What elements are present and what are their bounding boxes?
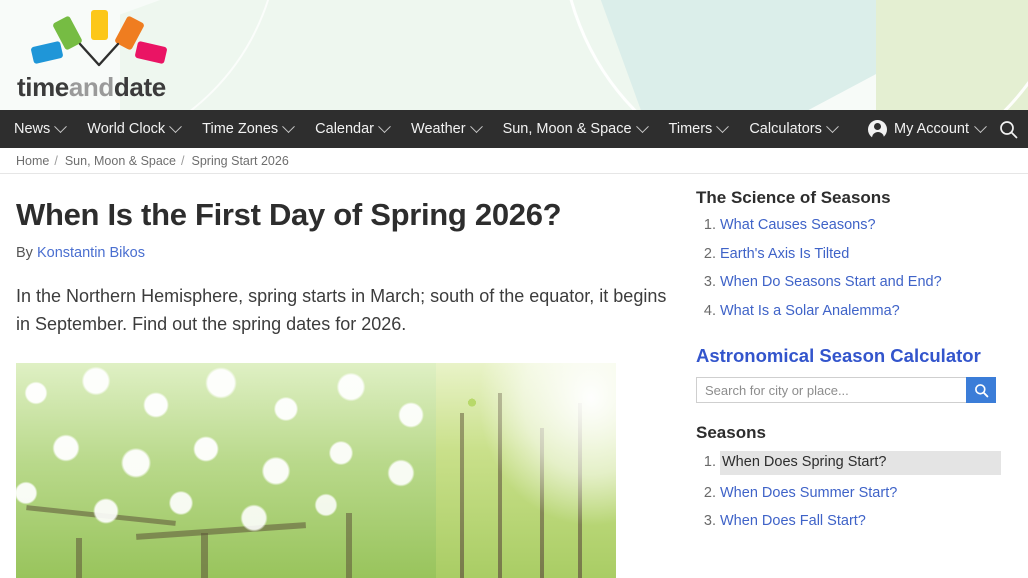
- header-band-green: [876, 0, 1028, 110]
- city-search-bar: [696, 377, 996, 403]
- logo-tile-blue-icon: [30, 41, 63, 64]
- breadcrumb: Home / Sun, Moon & Space / Spring Start …: [0, 148, 1028, 174]
- chevron-down-icon: [282, 120, 295, 133]
- list-item: Earth's Axis Is Tilted: [720, 245, 1012, 265]
- page-title: When Is the First Day of Spring 2026?: [16, 196, 688, 233]
- header-band-teal: [268, 0, 1028, 110]
- byline-prefix: By: [16, 245, 33, 261]
- wordmark-time: time: [17, 72, 69, 102]
- site-header: timeanddate: [0, 0, 1028, 110]
- list-item: When Does Fall Start?: [720, 512, 1012, 532]
- sidebar: The Science of Seasons What Causes Seaso…: [688, 174, 1012, 578]
- logo-tile-yellow-icon: [91, 10, 108, 40]
- science-link-3[interactable]: When Do Seasons Start and End?: [720, 274, 942, 290]
- my-account-label: My Account: [894, 121, 969, 137]
- list-item-current: When Does Spring Start?: [720, 451, 1012, 475]
- nav-label: Calculators: [749, 121, 822, 137]
- wordmark-and: and: [69, 72, 114, 102]
- author-link[interactable]: Konstantin Bikos: [37, 245, 145, 261]
- chevron-down-icon: [826, 120, 839, 133]
- nav-item-time-zones[interactable]: Time Zones: [202, 121, 293, 137]
- byline: By Konstantin Bikos: [16, 245, 688, 261]
- breadcrumb-separator: /: [181, 154, 184, 168]
- person-icon: [868, 120, 887, 139]
- chevron-down-icon: [169, 120, 182, 133]
- logo-wordmark: timeanddate: [17, 72, 166, 103]
- list-item: When Do Seasons Start and End?: [720, 273, 1012, 293]
- chevron-down-icon: [470, 120, 483, 133]
- nav-item-calendar[interactable]: Calendar: [315, 121, 389, 137]
- sidebar-heading-calculator: Astronomical Season Calculator: [696, 345, 1012, 367]
- article-lede: In the Northern Hemisphere, spring start…: [16, 283, 676, 339]
- nav-item-weather[interactable]: Weather: [411, 121, 481, 137]
- seasons-link-fall[interactable]: When Does Fall Start?: [720, 513, 866, 529]
- chevron-down-icon: [974, 120, 987, 133]
- search-icon: [974, 383, 989, 398]
- logo-chevron-icon: [78, 42, 120, 68]
- page-body: When Is the First Day of Spring 2026? By…: [0, 174, 1028, 578]
- logo-arc-icon: [30, 6, 188, 68]
- search-button[interactable]: [966, 377, 996, 403]
- list-item: When Does Summer Start?: [720, 484, 1012, 504]
- breadcrumb-current: Spring Start 2026: [192, 154, 289, 168]
- search-input[interactable]: [696, 377, 966, 403]
- list-item: What Is a Solar Analemma?: [720, 302, 1012, 322]
- nav-label: Sun, Moon & Space: [503, 121, 632, 137]
- nav-label: News: [14, 121, 50, 137]
- article-photo: [16, 363, 616, 578]
- nav-item-sun-moon-space[interactable]: Sun, Moon & Space: [503, 121, 647, 137]
- sidebar-heading-seasons: Seasons: [696, 423, 1012, 443]
- chevron-down-icon: [636, 120, 649, 133]
- seasons-item-spring: When Does Spring Start?: [720, 451, 1001, 475]
- breadcrumb-item-home[interactable]: Home: [16, 154, 49, 168]
- header-arc-icon: [560, 0, 1028, 110]
- nav-label: Calendar: [315, 121, 374, 137]
- breadcrumb-item-sun-moon-space[interactable]: Sun, Moon & Space: [65, 154, 176, 168]
- photo-sunglare-layer: [16, 363, 616, 578]
- sidebar-heading-science: The Science of Seasons: [696, 188, 1012, 208]
- main-navigation: News World Clock Time Zones Calendar Wea…: [0, 110, 1028, 148]
- nav-item-news[interactable]: News: [14, 121, 65, 137]
- wordmark-date: date: [114, 72, 166, 102]
- season-calculator-block: Astronomical Season Calculator: [696, 345, 1012, 403]
- nav-item-timers[interactable]: Timers: [669, 121, 728, 137]
- main-content: When Is the First Day of Spring 2026? By…: [16, 174, 688, 578]
- science-link-1[interactable]: What Causes Seasons?: [720, 217, 876, 233]
- my-account-button[interactable]: My Account: [868, 120, 985, 139]
- science-link-4[interactable]: What Is a Solar Analemma?: [720, 303, 900, 319]
- nav-label: Time Zones: [202, 121, 278, 137]
- logo-tile-pink-icon: [134, 41, 167, 64]
- seasons-link-summer[interactable]: When Does Summer Start?: [720, 485, 897, 501]
- nav-label: Weather: [411, 121, 466, 137]
- nav-right-group: My Account: [868, 120, 1018, 139]
- list-item: What Causes Seasons?: [720, 216, 1012, 236]
- search-icon[interactable]: [999, 120, 1018, 139]
- seasons-list: When Does Spring Start? When Does Summer…: [696, 451, 1012, 532]
- chevron-down-icon: [378, 120, 391, 133]
- nav-item-calculators[interactable]: Calculators: [749, 121, 837, 137]
- science-link-2[interactable]: Earth's Axis Is Tilted: [720, 246, 849, 262]
- chevron-down-icon: [54, 120, 67, 133]
- nav-label: World Clock: [87, 121, 165, 137]
- site-logo[interactable]: timeanddate: [16, 6, 216, 102]
- nav-label: Timers: [669, 121, 713, 137]
- breadcrumb-separator: /: [54, 154, 57, 168]
- science-of-seasons-list: What Causes Seasons? Earth's Axis Is Til…: [696, 216, 1012, 321]
- seasons-block: Seasons When Does Spring Start? When Doe…: [696, 423, 1012, 532]
- nav-item-world-clock[interactable]: World Clock: [87, 121, 180, 137]
- chevron-down-icon: [716, 120, 729, 133]
